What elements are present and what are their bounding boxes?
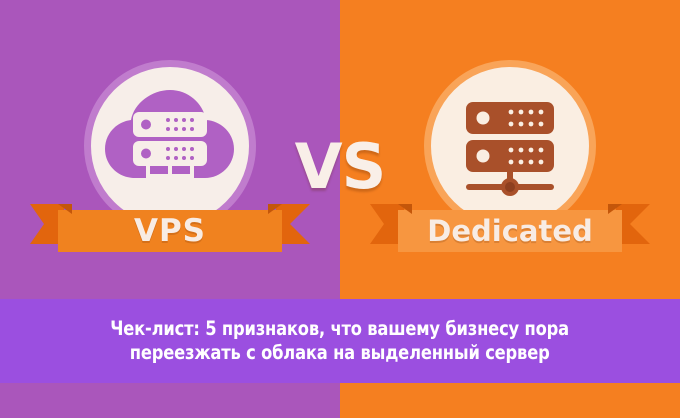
dedicated-server-icon [444, 84, 576, 204]
caption-line-1: Чек-лист: 5 признаков, что вашему бизнес… [111, 317, 570, 341]
caption-banner: Чек-лист: 5 признаков, что вашему бизнес… [0, 299, 680, 383]
ribbon-label-dedicated: Dedicated [427, 217, 593, 246]
promo-banner-image: VPS [0, 0, 680, 418]
ribbon-vps: VPS [58, 200, 282, 252]
caption-line-2: переезжать с облака на выделенный сервер [130, 341, 550, 365]
versus-label: VS [295, 136, 386, 198]
ribbon-label-vps: VPS [134, 216, 206, 247]
panel-vps: VPS [0, 0, 340, 299]
panel-dedicated: Dedicated [340, 0, 680, 299]
ribbon-band: Dedicated [398, 210, 622, 252]
cloud-server-icon [104, 84, 236, 204]
ribbon-band: VPS [58, 210, 282, 252]
ribbon-dedicated: Dedicated [398, 200, 622, 252]
